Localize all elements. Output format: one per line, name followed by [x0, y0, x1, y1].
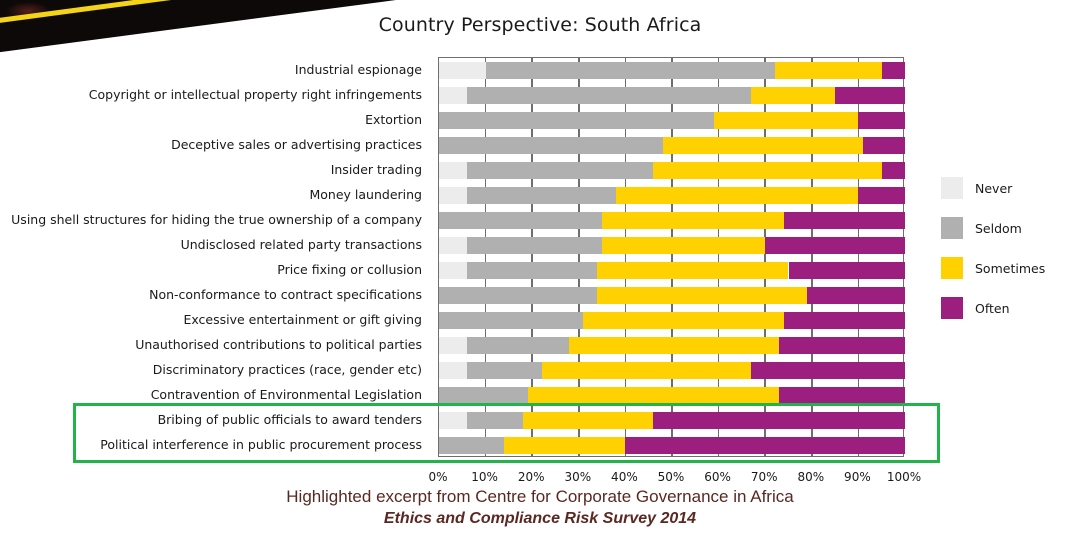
bar-segment-sometimes — [583, 312, 783, 329]
legend-label: Seldom — [975, 221, 1022, 236]
stacked-bar — [439, 262, 903, 279]
bar-segment-often — [779, 387, 905, 404]
chart-row — [439, 158, 903, 183]
x-tick-label: 80% — [797, 470, 824, 484]
legend-swatch-icon — [941, 297, 963, 319]
x-tick-label: 100% — [887, 470, 921, 484]
bar-segment-often — [779, 337, 905, 354]
chart-legend: NeverSeldomSometimesOften — [941, 168, 1076, 328]
stacked-bar — [439, 237, 903, 254]
category-label: Using shell structures for hiding the tr… — [11, 207, 430, 232]
x-tick-label: 90% — [844, 470, 871, 484]
bar-segment-never — [439, 362, 467, 379]
bar-rows — [439, 58, 903, 456]
footer-survey-line: Ethics and Compliance Risk Survey 2014 — [0, 508, 1080, 530]
category-label: Undisclosed related party transactions — [181, 232, 430, 257]
bar-segment-sometimes — [616, 187, 858, 204]
stacked-bar — [439, 112, 903, 129]
stacked-bar — [439, 337, 903, 354]
chart-row — [439, 358, 903, 383]
chart-row — [439, 83, 903, 108]
stacked-bar — [439, 187, 903, 204]
category-label: Unauthorised contributions to political … — [135, 332, 430, 357]
category-label: Deceptive sales or advertising practices — [171, 132, 430, 157]
chart-plot-area — [438, 57, 904, 457]
bar-segment-seldom — [486, 62, 775, 79]
category-label: Insider trading — [331, 157, 430, 182]
stacked-bar — [439, 62, 903, 79]
page-title: Country Perspective: South Africa — [0, 14, 1080, 36]
legend-label: Never — [975, 181, 1012, 196]
bar-segment-sometimes — [542, 362, 752, 379]
bar-segment-sometimes — [528, 387, 780, 404]
stacked-bar — [439, 212, 903, 229]
legend-swatch-icon — [941, 177, 963, 199]
stacked-bar — [439, 387, 903, 404]
chart-row — [439, 58, 903, 83]
category-label: Money laundering — [310, 182, 431, 207]
x-tick-label: 60% — [704, 470, 731, 484]
legend-item: Never — [941, 168, 1076, 208]
bar-segment-often — [789, 262, 906, 279]
x-tick-label: 30% — [564, 470, 591, 484]
chart-row — [439, 333, 903, 358]
bar-segment-sometimes — [663, 137, 863, 154]
bar-segment-seldom — [439, 112, 714, 129]
category-label: Non-conformance to contract specificatio… — [149, 282, 430, 307]
stacked-bar — [439, 312, 903, 329]
bar-segment-often — [784, 312, 905, 329]
legend-item: Seldom — [941, 208, 1076, 248]
chart-row — [439, 283, 903, 308]
bar-segment-often — [858, 112, 905, 129]
bar-segment-seldom — [439, 137, 663, 154]
x-tick-label: 40% — [611, 470, 638, 484]
bar-segment-often — [835, 87, 905, 104]
bar-segment-often — [882, 162, 905, 179]
chart-row — [439, 183, 903, 208]
chart-row — [439, 258, 903, 283]
bar-segment-often — [807, 287, 905, 304]
bar-segment-often — [765, 237, 905, 254]
x-tick-label: 10% — [471, 470, 498, 484]
bar-segment-sometimes — [751, 87, 835, 104]
bar-segment-sometimes — [602, 237, 765, 254]
stacked-bar — [439, 362, 903, 379]
category-label: Discriminatory practices (race, gender e… — [153, 357, 430, 382]
legend-swatch-icon — [941, 217, 963, 239]
bar-segment-often — [863, 137, 905, 154]
bar-segment-often — [784, 212, 905, 229]
bar-segment-seldom — [439, 312, 583, 329]
chart-row — [439, 233, 903, 258]
highlight-rectangle — [73, 403, 940, 463]
x-tick-label: 50% — [658, 470, 685, 484]
chart-row — [439, 208, 903, 233]
bar-segment-sometimes — [597, 262, 788, 279]
bar-segment-never — [439, 262, 467, 279]
category-label: Extortion — [365, 107, 430, 132]
bar-segment-sometimes — [775, 62, 882, 79]
x-tick-label: 70% — [751, 470, 778, 484]
legend-swatch-icon — [941, 257, 963, 279]
bar-segment-seldom — [439, 212, 602, 229]
bar-segment-seldom — [467, 262, 597, 279]
legend-item: Sometimes — [941, 248, 1076, 288]
bar-segment-often — [751, 362, 905, 379]
footer-source-line: Highlighted excerpt from Centre for Corp… — [0, 486, 1080, 508]
stacked-bar — [439, 287, 903, 304]
bar-segment-sometimes — [714, 112, 858, 129]
bar-segment-never — [439, 62, 486, 79]
x-tick-label: 0% — [428, 470, 447, 484]
bar-segment-seldom — [467, 337, 570, 354]
bar-segment-often — [858, 187, 905, 204]
bar-segment-seldom — [467, 162, 653, 179]
bar-segment-never — [439, 337, 467, 354]
x-tick-label: 20% — [518, 470, 545, 484]
bar-segment-never — [439, 237, 467, 254]
legend-label: Often — [975, 301, 1010, 316]
chart-row — [439, 108, 903, 133]
stacked-bar — [439, 87, 903, 104]
bar-segment-seldom — [467, 237, 602, 254]
stacked-bar — [439, 162, 903, 179]
category-axis-labels: Industrial espionageCopyright or intelle… — [0, 57, 430, 457]
category-label: Price fixing or collusion — [277, 257, 430, 282]
bar-segment-sometimes — [569, 337, 779, 354]
category-label: Excessive entertainment or gift giving — [183, 307, 430, 332]
bar-segment-never — [439, 87, 467, 104]
footer-caption: Highlighted excerpt from Centre for Corp… — [0, 486, 1080, 530]
category-label: Copyright or intellectual property right… — [89, 82, 430, 107]
bar-segment-seldom — [467, 87, 751, 104]
bar-segment-often — [882, 62, 905, 79]
category-label: Industrial espionage — [295, 57, 430, 82]
bar-segment-never — [439, 187, 467, 204]
stacked-bar — [439, 137, 903, 154]
chart-row — [439, 308, 903, 333]
bar-segment-seldom — [439, 387, 528, 404]
bar-segment-sometimes — [653, 162, 881, 179]
bar-segment-never — [439, 162, 467, 179]
bar-segment-sometimes — [602, 212, 784, 229]
bar-segment-sometimes — [597, 287, 807, 304]
bar-segment-seldom — [439, 287, 597, 304]
bar-segment-seldom — [467, 362, 542, 379]
bar-segment-seldom — [467, 187, 616, 204]
legend-label: Sometimes — [975, 261, 1045, 276]
chart-row — [439, 133, 903, 158]
legend-item: Often — [941, 288, 1076, 328]
